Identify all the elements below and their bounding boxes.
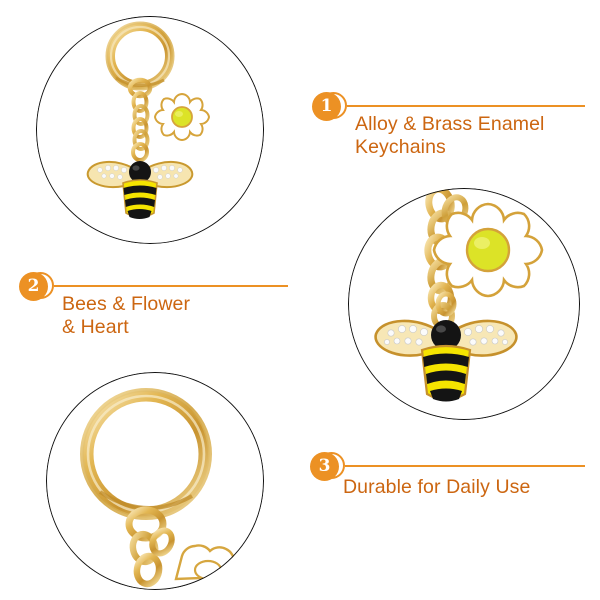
badge-number-3: 3 <box>310 452 339 481</box>
keyring-closeup-illustration <box>46 372 264 590</box>
daisy-charm <box>434 204 542 296</box>
chain <box>130 527 175 586</box>
badge-number-1: 1 <box>312 92 341 121</box>
infographic-canvas: 1 Alloy & Brass Enamel Keychains 2 Bees … <box>0 0 600 600</box>
keychain-full-illustration <box>36 16 264 244</box>
photo-charm-closeup <box>348 188 580 420</box>
callout-rule-2 <box>54 285 288 287</box>
callout-1: 1 Alloy & Brass Enamel Keychains <box>312 92 592 172</box>
callout-badge-3: 3 <box>310 452 339 481</box>
callout-rule-1 <box>347 105 585 107</box>
callout-title-3: Durable for Daily Use <box>343 476 593 499</box>
photo-keychain-full <box>36 16 264 244</box>
callout-3: 3 Durable for Daily Use <box>310 452 590 512</box>
callout-2: 2 Bees & Flower & Heart <box>19 272 299 352</box>
chain <box>133 93 148 160</box>
daisy-charm <box>155 94 209 140</box>
callout-title-2: Bees & Flower & Heart <box>62 293 302 339</box>
flower-charm <box>176 545 234 579</box>
callout-badge-2: 2 <box>19 272 48 301</box>
callout-rule-3 <box>345 465 585 467</box>
bee-charm <box>88 161 193 219</box>
charm-closeup-illustration <box>348 188 580 420</box>
callout-title-1: Alloy & Brass Enamel Keychains <box>355 113 595 159</box>
split-key-ring <box>82 390 210 518</box>
callout-badge-1: 1 <box>312 92 341 121</box>
photo-keyring-closeup <box>46 372 264 590</box>
badge-number-2: 2 <box>19 272 48 301</box>
